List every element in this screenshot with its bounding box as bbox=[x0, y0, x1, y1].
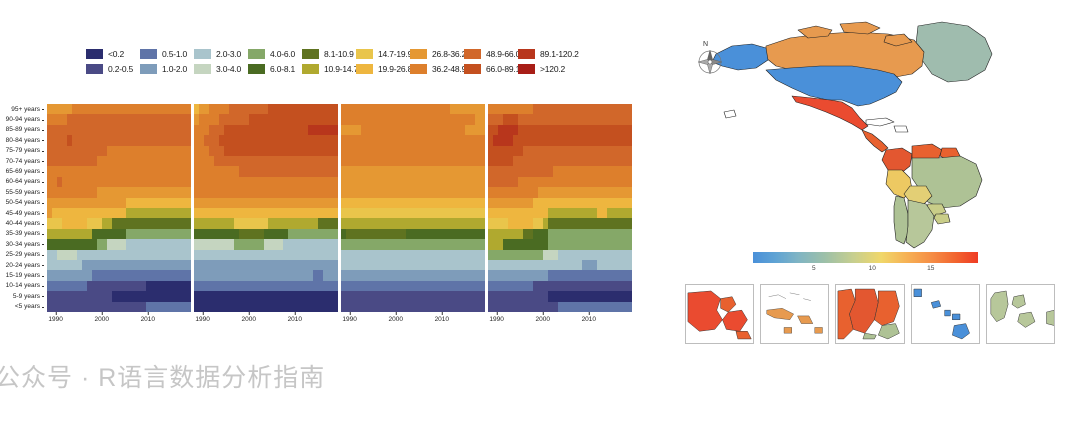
legend-label: 1.0-2.0 bbox=[162, 64, 187, 74]
heatmap-y-axis: 95+ years90-94 years85-89 years80-84 yea… bbox=[0, 104, 44, 312]
heatmap-cell bbox=[480, 135, 485, 145]
legend-entry: 0.5-1.0 bbox=[140, 46, 194, 61]
legend-label: 48.9-66.0 bbox=[486, 49, 520, 59]
legend-label: 89.1-120.2 bbox=[540, 49, 579, 59]
x-axis-panel: 199020002010 bbox=[488, 312, 632, 334]
heatmap-cell bbox=[186, 229, 191, 239]
heatmap-cell bbox=[627, 104, 632, 114]
pacific-islands-inset bbox=[911, 284, 980, 344]
heatmap-cell bbox=[333, 146, 338, 156]
heatmap-cell bbox=[186, 291, 191, 301]
panel-grid bbox=[47, 104, 191, 312]
x-axis-tick: 1990 bbox=[48, 312, 62, 323]
heatmap-cell bbox=[333, 114, 338, 124]
y-axis-tick: 90-94 years bbox=[0, 114, 44, 124]
heatmap-cell bbox=[480, 125, 485, 135]
heatmap-cell bbox=[186, 156, 191, 166]
heatmap-cell bbox=[186, 218, 191, 228]
colorbar-ticks: 51015 bbox=[753, 263, 978, 277]
heatmap-cell bbox=[480, 291, 485, 301]
legend-entry: 3.0-4.0 bbox=[194, 61, 248, 76]
heatmap-panel-low-sdi: Low SDI bbox=[341, 104, 485, 312]
lesser-antilles-inset bbox=[835, 284, 904, 344]
legend-swatch bbox=[518, 64, 535, 74]
heatmap-cell bbox=[627, 125, 632, 135]
legend-label: 10.9-14.7 bbox=[324, 64, 358, 74]
americas-map: N bbox=[680, 8, 1070, 258]
heatmap-cell bbox=[333, 260, 338, 270]
y-axis-tick: 20-24 years bbox=[0, 260, 44, 270]
region-united-states bbox=[766, 66, 902, 106]
watermark: 公众号 · R语言数据分析指南 bbox=[0, 352, 425, 400]
heatmap-cell bbox=[186, 104, 191, 114]
region-chile bbox=[894, 196, 908, 244]
legend-label: 0.2-0.5 bbox=[108, 64, 133, 74]
heatmap-cell bbox=[333, 291, 338, 301]
heatmap-cell bbox=[333, 135, 338, 145]
legend-entry: 26.8-36.2 bbox=[410, 46, 464, 61]
heatmap-panel-high-sdi: High SDI bbox=[194, 104, 338, 312]
legend-swatch bbox=[194, 64, 211, 74]
heatmap-cell bbox=[627, 302, 632, 312]
heatmap-cell bbox=[627, 177, 632, 187]
colorbar-tick: 5 bbox=[812, 263, 816, 272]
legend-swatch bbox=[248, 64, 265, 74]
figure-root: <0.20.2-0.50.5-1.01.0-2.02.0-3.03.0-4.04… bbox=[0, 0, 1080, 426]
heatmap-cell bbox=[480, 208, 485, 218]
x-axis-tick: 2000 bbox=[241, 312, 255, 323]
heatmap-cell bbox=[186, 281, 191, 291]
heatmap-cell bbox=[333, 270, 338, 280]
heatmap-cell bbox=[627, 156, 632, 166]
x-axis-tick: 2000 bbox=[388, 312, 402, 323]
legend-entry: 89.1-120.2 bbox=[518, 46, 572, 61]
x-axis-tick: 2000 bbox=[535, 312, 549, 323]
y-axis-tick: 35-39 years bbox=[0, 229, 44, 239]
y-axis-tick: 55-59 years bbox=[0, 187, 44, 197]
y-axis-tick: 45-49 years bbox=[0, 208, 44, 218]
heatmap-cell bbox=[186, 260, 191, 270]
heatmap-panel-global: Global bbox=[47, 104, 191, 312]
legend-label: 19.9-26.8 bbox=[378, 64, 412, 74]
heatmap-cell bbox=[186, 166, 191, 176]
colorbar-tick: 10 bbox=[869, 263, 876, 272]
map-figure: N 51015 bbox=[660, 0, 1080, 426]
heatmap-cell bbox=[186, 198, 191, 208]
x-axis-tick: 2010 bbox=[435, 312, 449, 323]
heatmap-cell bbox=[627, 166, 632, 176]
heatmap-cell bbox=[480, 250, 485, 260]
heatmap-cell bbox=[627, 239, 632, 249]
heatmap-cell bbox=[627, 250, 632, 260]
heatmap-cell bbox=[480, 156, 485, 166]
x-axis-panel: 199020002010 bbox=[341, 312, 485, 334]
x-axis-tick: 2010 bbox=[141, 312, 155, 323]
map-inset-panels bbox=[685, 284, 1055, 344]
heatmap-cell bbox=[186, 187, 191, 197]
legend-swatch bbox=[518, 49, 535, 59]
x-axis-tick: 2010 bbox=[582, 312, 596, 323]
legend-entry: 0.2-0.5 bbox=[86, 61, 140, 76]
legend-swatch bbox=[356, 49, 373, 59]
heatmap-cell bbox=[333, 166, 338, 176]
y-axis-tick: 30-34 years bbox=[0, 239, 44, 249]
region-small-island-1 bbox=[724, 110, 736, 118]
legend-label: 6.0-8.1 bbox=[270, 64, 295, 74]
x-axis-panel: 199020002010 bbox=[194, 312, 338, 334]
heatmap-cell bbox=[627, 135, 632, 145]
heatmap-cell bbox=[480, 187, 485, 197]
legend-entry: 36.2-48.9 bbox=[410, 61, 464, 76]
y-axis-tick: 15-19 years bbox=[0, 270, 44, 280]
compass-rose-icon: N bbox=[694, 38, 728, 80]
heatmap-cell bbox=[333, 250, 338, 260]
legend-label: 0.5-1.0 bbox=[162, 49, 187, 59]
legend-entry: 48.9-66.0 bbox=[464, 46, 518, 61]
map-svg bbox=[680, 8, 1070, 258]
watermark-text: 公众号 · R语言数据分析指南 bbox=[0, 358, 325, 394]
heatmap-cell bbox=[627, 229, 632, 239]
legend-label: >120.2 bbox=[540, 64, 565, 74]
heatmap-cell bbox=[480, 260, 485, 270]
map-colorbar: 51015 bbox=[753, 252, 978, 278]
legend-label: 66.0-89.1 bbox=[486, 64, 520, 74]
legend-label: 3.0-4.0 bbox=[216, 64, 241, 74]
legend-entry: 10.9-14.7 bbox=[302, 61, 356, 76]
heatmap-cell bbox=[333, 198, 338, 208]
x-axis-panel: 1990200020101960 bbox=[47, 312, 191, 334]
legend-swatch bbox=[356, 64, 373, 74]
legend-entry: >120.2 bbox=[518, 61, 572, 76]
y-axis-tick: 75-79 years bbox=[0, 146, 44, 156]
legend-swatch bbox=[410, 64, 427, 74]
heatmap-cell bbox=[186, 125, 191, 135]
svg-text:N: N bbox=[703, 41, 708, 48]
heatmap-cell bbox=[186, 302, 191, 312]
legend-entry: 1.0-2.0 bbox=[140, 61, 194, 76]
heatmap-cell bbox=[627, 281, 632, 291]
heatmap-cell bbox=[333, 239, 338, 249]
heatmap-cell bbox=[627, 270, 632, 280]
legend-entry: 2.0-3.0 bbox=[194, 46, 248, 61]
panel-grid bbox=[341, 104, 485, 312]
legend-swatch bbox=[464, 49, 481, 59]
heatmap-cell bbox=[186, 146, 191, 156]
legend-swatch bbox=[248, 49, 265, 59]
y-axis-tick: 25-29 years bbox=[0, 250, 44, 260]
heatmap-cell bbox=[627, 114, 632, 124]
x-axis-tick: 1990 bbox=[489, 312, 503, 323]
heatmap-cell bbox=[480, 239, 485, 249]
region-canada-arctic-2 bbox=[840, 22, 880, 34]
heatmap-cell bbox=[186, 270, 191, 280]
legend-label: 2.0-3.0 bbox=[216, 49, 241, 59]
y-axis-tick: 80-84 years bbox=[0, 135, 44, 145]
panel-grid bbox=[194, 104, 338, 312]
y-axis-tick: 65-69 years bbox=[0, 166, 44, 176]
legend-entry: <0.2 bbox=[86, 46, 140, 61]
legend-swatch bbox=[86, 64, 103, 74]
legend-label: 4.0-6.0 bbox=[270, 49, 295, 59]
heatmap-cell bbox=[186, 250, 191, 260]
heatmap-panel-middle-sdi: Middle SDI bbox=[488, 104, 632, 312]
heatmap-cell bbox=[480, 114, 485, 124]
legend-entry: 6.0-8.1 bbox=[248, 61, 302, 76]
heatmap-cell bbox=[333, 187, 338, 197]
legend-label: 36.2-48.9 bbox=[432, 64, 466, 74]
heatmap-cell bbox=[627, 291, 632, 301]
region-central-america bbox=[862, 130, 888, 152]
heatmap-cell bbox=[333, 218, 338, 228]
heatmap-cell bbox=[480, 281, 485, 291]
legend-label: 26.8-36.2 bbox=[432, 49, 466, 59]
heatmap-cell bbox=[480, 302, 485, 312]
heatmap-cell bbox=[333, 281, 338, 291]
heatmap-panels: GlobalHigh SDILow SDIMiddle SDI bbox=[47, 104, 632, 312]
legend-label: <0.2 bbox=[108, 49, 124, 59]
region-uruguay bbox=[934, 214, 950, 224]
legend-swatch bbox=[302, 49, 319, 59]
heatmap-cell bbox=[333, 125, 338, 135]
caribbean-inset bbox=[760, 284, 829, 344]
heatmap-cell bbox=[627, 260, 632, 270]
heatmap-legend: <0.20.2-0.50.5-1.01.0-2.02.0-3.03.0-4.04… bbox=[86, 46, 626, 78]
heatmap-cell bbox=[333, 177, 338, 187]
heatmap-cell bbox=[480, 229, 485, 239]
legend-entry: 14.7-19.9 bbox=[356, 46, 410, 61]
heatmap-cell bbox=[480, 270, 485, 280]
legend-label: 8.1-10.9 bbox=[324, 49, 354, 59]
heatmap-cell bbox=[333, 208, 338, 218]
heatmap-cell bbox=[333, 302, 338, 312]
legend-entry: 66.0-89.1 bbox=[464, 61, 518, 76]
heatmap-cell bbox=[480, 104, 485, 114]
x-axis-tick: 2000 bbox=[94, 312, 108, 323]
heatmap-cell bbox=[627, 187, 632, 197]
legend-entry: 8.1-10.9 bbox=[302, 46, 356, 61]
y-axis-tick: 50-54 years bbox=[0, 198, 44, 208]
region-greenland bbox=[916, 22, 992, 82]
x-axis-tick: 1990 bbox=[342, 312, 356, 323]
heatmap-x-axis: 1990200020101960199020002010199020002010… bbox=[47, 312, 632, 334]
y-axis-tick: 70-74 years bbox=[0, 156, 44, 166]
heatmap-cell bbox=[627, 218, 632, 228]
y-axis-tick: 60-64 years bbox=[0, 177, 44, 187]
legend-swatch bbox=[410, 49, 427, 59]
heatmap-cell bbox=[333, 104, 338, 114]
y-axis-tick: 10-14 years bbox=[0, 281, 44, 291]
heatmap-cell bbox=[186, 208, 191, 218]
colorbar-tick: 15 bbox=[927, 263, 934, 272]
heatmap-cell bbox=[627, 198, 632, 208]
x-axis-tick: 2010 bbox=[288, 312, 302, 323]
panel-grid bbox=[488, 104, 632, 312]
region-hispaniola bbox=[894, 126, 908, 132]
heatmap-cell bbox=[186, 177, 191, 187]
legend-swatch bbox=[140, 49, 157, 59]
y-axis-tick: 40-44 years bbox=[0, 218, 44, 228]
y-axis-tick: 95+ years bbox=[0, 104, 44, 114]
island-group-inset bbox=[986, 284, 1055, 344]
legend-swatch bbox=[302, 64, 319, 74]
heatmap-cell bbox=[480, 166, 485, 176]
y-axis-tick: <5 years bbox=[0, 302, 44, 312]
legend-entry: 4.0-6.0 bbox=[248, 46, 302, 61]
legend-swatch bbox=[86, 49, 103, 59]
heatmap-cell bbox=[480, 218, 485, 228]
heatmap-cell bbox=[333, 229, 338, 239]
heatmap-cell bbox=[186, 135, 191, 145]
heatmap-cell bbox=[333, 156, 338, 166]
heatmap-cell bbox=[627, 208, 632, 218]
central-america-inset bbox=[685, 284, 754, 344]
heatmap-cell bbox=[480, 177, 485, 187]
legend-swatch bbox=[194, 49, 211, 59]
legend-label: 14.7-19.9 bbox=[378, 49, 412, 59]
y-axis-tick: 85-89 years bbox=[0, 125, 44, 135]
y-axis-tick: 5-9 years bbox=[0, 291, 44, 301]
legend-swatch bbox=[464, 64, 481, 74]
region-cuba bbox=[866, 118, 894, 126]
heatmap-cell bbox=[186, 239, 191, 249]
x-axis-tick: 1990 bbox=[195, 312, 209, 323]
heatmap-cell bbox=[186, 114, 191, 124]
heatmap-cell bbox=[480, 198, 485, 208]
heatmap-cell bbox=[480, 146, 485, 156]
colorbar-gradient bbox=[753, 252, 978, 263]
heatmap-cell bbox=[627, 146, 632, 156]
legend-entry: 19.9-26.8 bbox=[356, 61, 410, 76]
legend-swatch bbox=[140, 64, 157, 74]
